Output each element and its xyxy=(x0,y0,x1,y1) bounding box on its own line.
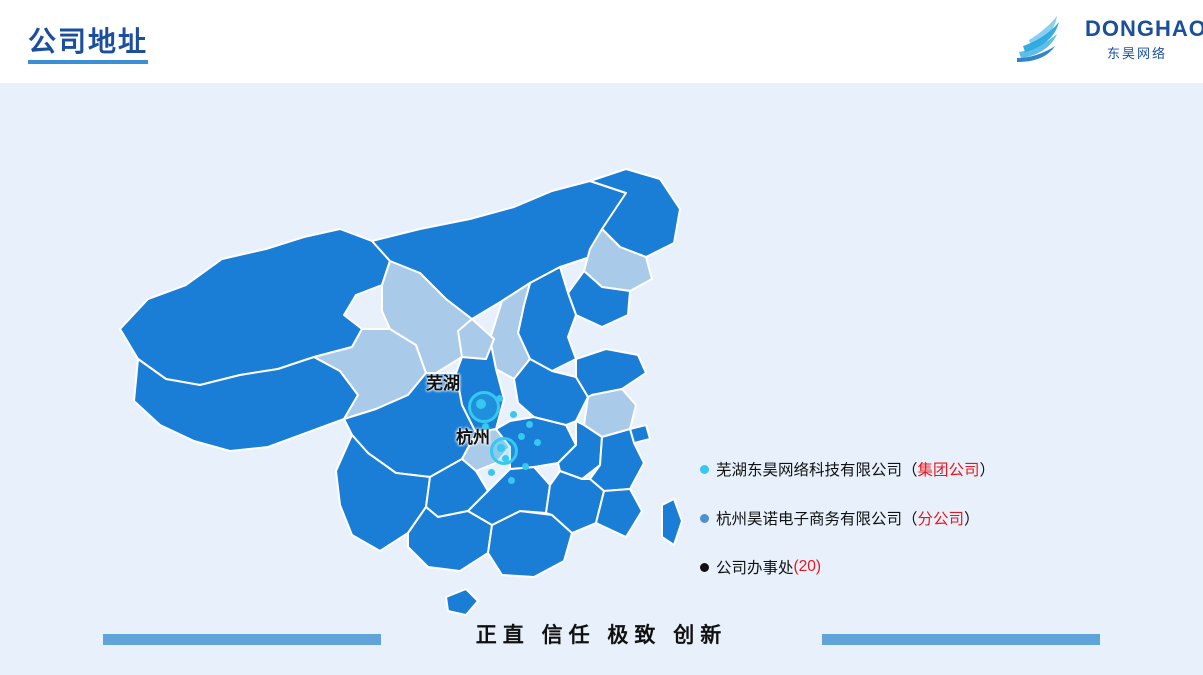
fan-logo-icon xyxy=(1015,12,1081,69)
office-dot xyxy=(510,411,517,418)
legend-item-branch-company: 杭州昊诺电子商务有限公司（分公司） xyxy=(700,507,1120,529)
office-dot xyxy=(488,469,495,476)
legend-tail: ） xyxy=(980,458,996,480)
legend: 芜湖东昊网络科技有限公司（集团公司） 杭州昊诺电子商务有限公司（分公司） 公司办… xyxy=(700,458,1120,605)
legend-highlight: 分公司 xyxy=(918,507,965,529)
blue-bullet-icon xyxy=(700,514,709,523)
legend-tail: ） xyxy=(964,507,980,529)
footer-slogan: 正直 信任 极致 创新 xyxy=(0,619,1203,649)
legend-highlight: (20) xyxy=(794,558,822,576)
legend-text: 公司办事处 xyxy=(716,556,794,578)
dark-bullet-icon xyxy=(700,563,709,572)
office-dot xyxy=(518,433,525,440)
office-dot xyxy=(508,477,515,484)
logo-text-en: DONGHAO xyxy=(1085,16,1203,42)
china-map: 芜湖 杭州 xyxy=(90,133,710,653)
cyan-bullet-icon xyxy=(700,465,709,474)
legend-highlight: 集团公司 xyxy=(918,458,980,480)
office-dot xyxy=(496,395,503,402)
company-logo: DONGHAO 东昊网络 xyxy=(1015,10,1185,72)
office-dot xyxy=(482,423,489,430)
legend-item-offices: 公司办事处(20) xyxy=(700,556,1120,578)
slide-body: 芜湖 杭州 芜湖东昊网络科技有限公司（集团公司） 杭州昊诺电子商务有限公司（分公… xyxy=(0,83,1203,675)
office-dot xyxy=(534,439,541,446)
legend-text: 芜湖东昊网络科技有限公司（ xyxy=(716,458,918,480)
legend-item-group-company: 芜湖东昊网络科技有限公司（集团公司） xyxy=(700,458,1120,480)
page-header: 公司地址 DONGHAO 东昊网络 xyxy=(0,0,1203,83)
office-dot xyxy=(526,421,533,428)
title-underline xyxy=(28,60,148,64)
marker-wuhu-dot xyxy=(476,399,486,409)
city-label-wuhu: 芜湖 xyxy=(426,369,460,394)
page-title: 公司地址 xyxy=(28,20,148,60)
logo-text-cn: 东昊网络 xyxy=(1107,43,1167,62)
legend-text: 杭州昊诺电子商务有限公司（ xyxy=(716,507,918,529)
office-dot xyxy=(522,463,529,470)
marker-hangzhou-dot xyxy=(497,444,505,452)
office-dot xyxy=(502,455,509,462)
